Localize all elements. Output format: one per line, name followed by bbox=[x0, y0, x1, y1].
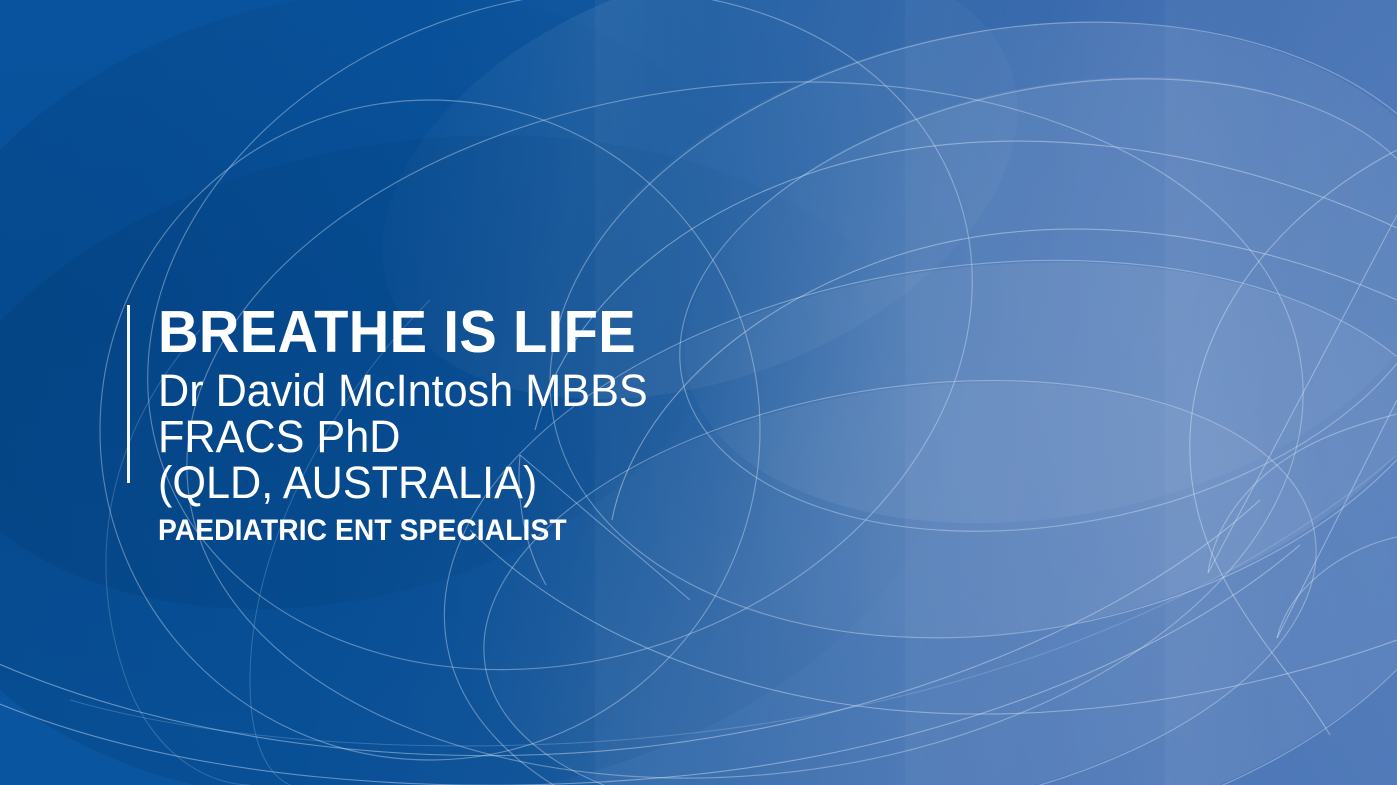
specialty-subtitle: PAEDIATRIC ENT SPECIALIST bbox=[158, 516, 778, 546]
title-text-column: BREATHE IS LIFE Dr David McIntosh MBBS F… bbox=[130, 303, 818, 546]
page-title: BREATHE IS LIFE bbox=[158, 303, 785, 362]
credentials-line-1: Dr David McIntosh MBBS FRACS PhD bbox=[158, 368, 792, 460]
credentials-line-2: (QLD, AUSTRALIA) bbox=[158, 460, 792, 506]
title-slide: BREATHE IS LIFE Dr David McIntosh MBBS F… bbox=[0, 0, 1397, 785]
vertical-accent-bar bbox=[127, 305, 130, 483]
title-block: BREATHE IS LIFE Dr David McIntosh MBBS F… bbox=[127, 303, 818, 546]
credentials-text: Dr David McIntosh MBBS FRACS PhD (QLD, A… bbox=[158, 368, 792, 506]
